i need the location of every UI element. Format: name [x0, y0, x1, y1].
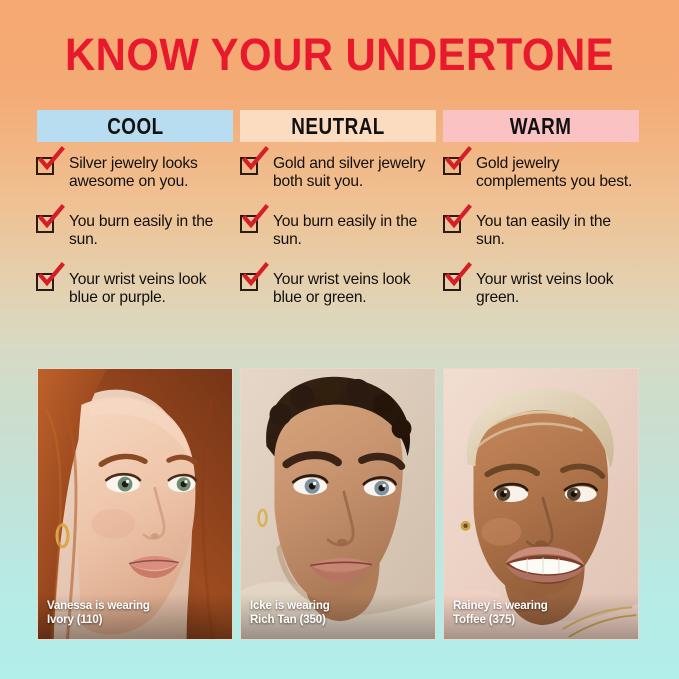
- checklist-item-label: You burn easily in the sun.: [69, 213, 236, 250]
- checklist-item-label: You burn easily in the sun.: [273, 213, 440, 250]
- checkbox-box: [240, 273, 258, 291]
- column-header-cool-label: COOL: [107, 113, 163, 140]
- checklist-item: Your wrist veins look blue or purple.: [36, 271, 236, 308]
- undertone-infographic: KNOW YOUR UNDERTONE COOL NEUTRAL WARM Si…: [0, 0, 679, 679]
- page-title: KNOW YOUR UNDERTONE: [24, 31, 655, 79]
- portrait-illustration-icke: [241, 369, 435, 639]
- checklist-item: You tan easily in the sun.: [443, 213, 643, 250]
- checklist-item: Gold jewelry complements you best.: [443, 155, 643, 192]
- checkbox-box: [36, 215, 54, 233]
- checklist-item: Your wrist veins look blue or green.: [240, 271, 440, 308]
- checkbox-box: [240, 215, 258, 233]
- checklist-item-label: Your wrist veins look blue or purple.: [69, 271, 236, 308]
- checklist-item-label: Your wrist veins look green.: [476, 271, 643, 308]
- checklist-item: Your wrist veins look green.: [443, 271, 643, 308]
- checkbox-box: [240, 157, 258, 175]
- checkbox-box: [443, 215, 461, 233]
- photo-caption: Vanessa is wearing Ivory (110): [47, 600, 150, 627]
- portrait-illustration-vanessa: [38, 369, 232, 639]
- model-photo-cool: Vanessa is wearing Ivory (110): [37, 368, 233, 640]
- checklist-item-label: Gold and silver jewelry both suit you.: [273, 155, 440, 192]
- checklist-item-label: Gold jewelry complements you best.: [476, 155, 643, 192]
- checklist-neutral: Gold and silver jewelry both suit you. Y…: [240, 155, 440, 307]
- photo-caption: Icke is wearing Rich Tan (350): [250, 600, 330, 627]
- checklist-cool: Silver jewelry looks awesome on you. You…: [36, 155, 236, 307]
- photo-caption: Rainey is wearing Toffee (375): [453, 600, 548, 627]
- column-header-neutral: NEUTRAL: [240, 110, 436, 142]
- checklist-item: Silver jewelry looks awesome on you.: [36, 155, 236, 192]
- portrait-illustration-rainey: [444, 369, 638, 639]
- checklist-item-label: You tan easily in the sun.: [476, 213, 643, 250]
- model-photo-warm: Rainey is wearing Toffee (375): [443, 368, 639, 640]
- checkbox-box: [443, 273, 461, 291]
- column-header-warm-label: WARM: [510, 113, 572, 140]
- checkbox-box: [443, 157, 461, 175]
- checklist-item: You burn easily in the sun.: [36, 213, 236, 250]
- checklist-item-label: Your wrist veins look blue or green.: [273, 271, 440, 308]
- checkbox-box: [36, 157, 54, 175]
- checklist-item: You burn easily in the sun.: [240, 213, 440, 250]
- checklist-item: Gold and silver jewelry both suit you.: [240, 155, 440, 192]
- checkbox-box: [36, 273, 54, 291]
- checklist-warm: Gold jewelry complements you best. You t…: [443, 155, 643, 307]
- model-photo-neutral: Icke is wearing Rich Tan (350): [240, 368, 436, 640]
- column-header-warm: WARM: [443, 110, 639, 142]
- checklist-item-label: Silver jewelry looks awesome on you.: [69, 155, 236, 192]
- column-header-neutral-label: NEUTRAL: [291, 113, 385, 140]
- column-header-cool: COOL: [37, 110, 233, 142]
